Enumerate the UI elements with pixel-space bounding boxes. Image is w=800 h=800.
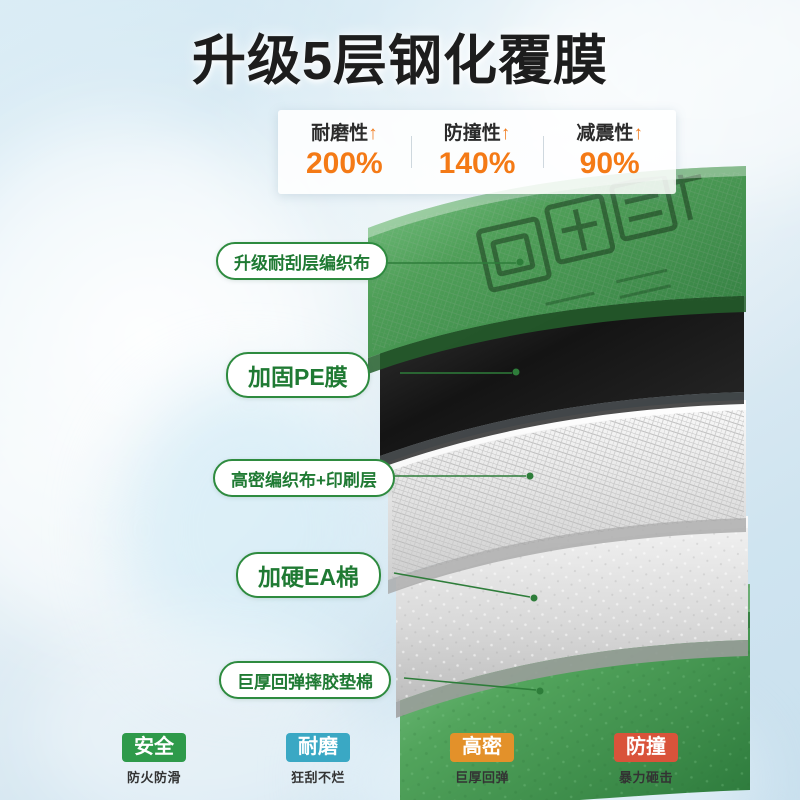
badge-subtitle: 暴力砸击 (590, 767, 702, 786)
badge-title: 耐磨 (286, 733, 350, 762)
spec-value: 140% (411, 146, 544, 182)
badge-title: 防撞 (614, 733, 678, 762)
spec-item-impact: 防撞性↑ 140% (411, 122, 544, 183)
spec-label-text: 减震性 (576, 123, 633, 144)
spec-value: 200% (278, 146, 411, 182)
spec-item-shock: 减震性↑ 90% (543, 122, 676, 183)
page-title: 升级5层钢化覆膜 (0, 16, 800, 95)
feature-badge-density: 高密 巨厚回弹 (426, 733, 538, 786)
feature-badge-impact: 防撞 暴力砸击 (590, 733, 702, 786)
spec-label: 防撞性↑ (411, 122, 544, 146)
badge-title: 安全 (122, 733, 186, 762)
product-poster: 升级5层钢化覆膜 耐磨性↑ 200% 防撞性↑ 140% 减震性↑ 90% 升级… (0, 0, 800, 800)
layer-callout-4: 加硬EA棉 (236, 552, 381, 598)
arrow-up-icon: ↑ (368, 123, 378, 144)
spec-label: 耐磨性↑ (278, 122, 411, 146)
spec-label-text: 防撞性 (444, 123, 501, 144)
feature-badge-wear: 耐磨 狂刮不烂 (262, 733, 374, 786)
layer-callout-3: 高密编织布+印刷层 (213, 459, 395, 497)
arrow-up-icon: ↑ (501, 123, 511, 144)
feature-badge-safety: 安全 防火防滑 (98, 733, 210, 786)
badge-title: 高密 (450, 733, 514, 762)
spec-panel: 耐磨性↑ 200% 防撞性↑ 140% 减震性↑ 90% (278, 110, 676, 194)
badge-subtitle: 狂刮不烂 (262, 767, 374, 786)
layer-callout-2: 加固PE膜 (226, 352, 370, 398)
feature-badge-row: 安全 防火防滑 耐磨 狂刮不烂 高密 巨厚回弹 防撞 暴力砸击 (0, 733, 800, 786)
arrow-up-icon: ↑ (633, 123, 643, 144)
spec-label: 减震性↑ (543, 122, 676, 146)
layer-callout-1: 升级耐刮层编织布 (216, 242, 388, 280)
spec-item-abrasion: 耐磨性↑ 200% (278, 122, 411, 183)
badge-subtitle: 巨厚回弹 (426, 767, 538, 786)
badge-subtitle: 防火防滑 (98, 767, 210, 786)
layer-callout-5: 巨厚回弹摔胶垫棉 (219, 661, 391, 699)
spec-value: 90% (543, 146, 676, 182)
spec-label-text: 耐磨性 (311, 123, 368, 144)
